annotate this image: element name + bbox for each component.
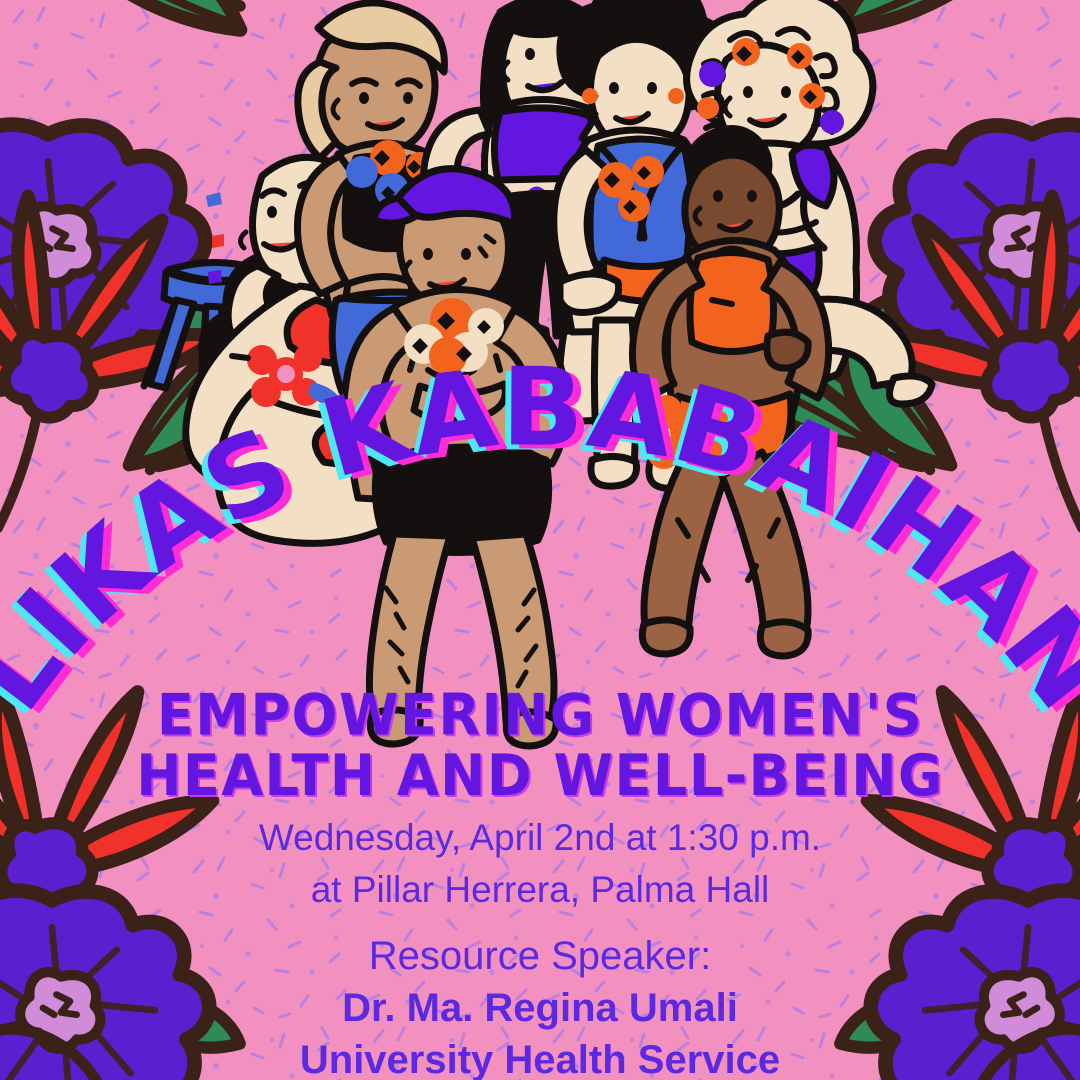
speaker-label: Resource Speaker:	[0, 930, 1080, 982]
subtitle-line-1: EMPOWERING WOMEN'S	[0, 685, 1080, 745]
event-date-time: Wednesday, April 2nd at 1:30 p.m.	[0, 812, 1080, 864]
poster-canvas: LIKAS KABABAIHAN LIKAS KABABAIHAN LIKAS …	[0, 0, 1080, 1080]
speaker-organization: University Health Service	[0, 1034, 1080, 1080]
poster-subtitle: EMPOWERING WOMEN'S HEALTH AND WELL-BEING	[0, 685, 1080, 806]
speaker-name: Dr. Ma. Regina Umali	[0, 982, 1080, 1034]
event-details: Wednesday, April 2nd at 1:30 p.m. at Pil…	[0, 812, 1080, 916]
subtitle-line-2: HEALTH AND WELL-BEING	[0, 745, 1080, 805]
event-venue: at Pillar Herrera, Palma Hall	[0, 864, 1080, 916]
speaker-block: Resource Speaker: Dr. Ma. Regina Umali U…	[0, 930, 1080, 1080]
